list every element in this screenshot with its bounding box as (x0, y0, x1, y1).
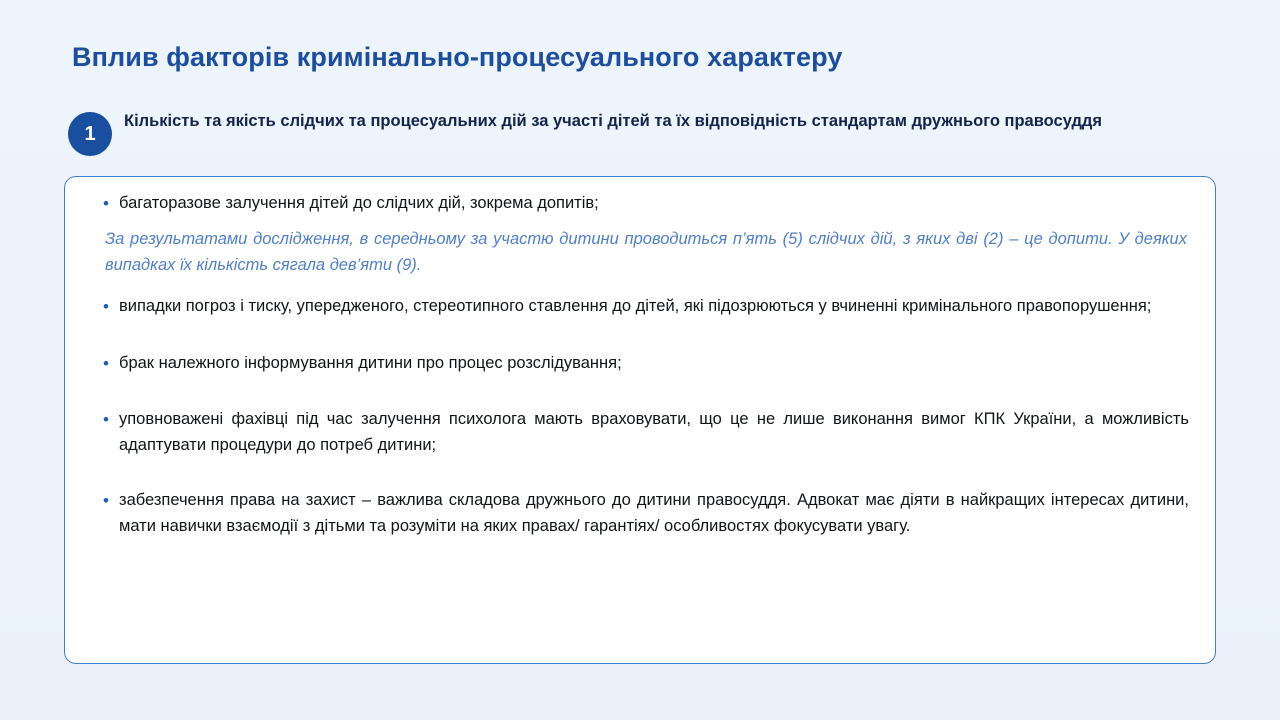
spacer (87, 458, 1193, 488)
bullet-icon: • (87, 351, 119, 377)
bullet-icon: • (87, 488, 119, 514)
research-note: За результатами дослідження, в середньом… (105, 227, 1191, 278)
page-title: Вплив факторів кримінально-процесуальног… (72, 42, 842, 73)
section-number-badge: 1 (68, 112, 112, 156)
slide: Вплив факторів кримінально-процесуальног… (0, 0, 1280, 720)
list-item-text: забезпечення права на захист – важлива с… (119, 488, 1193, 539)
list-item: • багаторазове залучення дітей до слідчи… (87, 191, 1193, 217)
spacer (87, 282, 1193, 294)
spacer (87, 377, 1193, 407)
list-item: • випадки погроз і тиску, упередженого, … (87, 294, 1193, 320)
section-subtitle: Кількість та якість слідчих та процесуал… (124, 110, 1144, 133)
list-item-text: багаторазове залучення дітей до слідчих … (119, 191, 1193, 217)
list-item: • уповноважені фахівці під час залучення… (87, 407, 1193, 458)
bullet-icon: • (87, 294, 119, 320)
list-item-text: брак належного інформування дитини про п… (119, 351, 1193, 377)
section-number-label: 1 (84, 123, 95, 146)
list-item: • забезпечення права на захист – важлива… (87, 488, 1193, 539)
list-item-text: випадки погроз і тиску, упередженого, ст… (119, 294, 1193, 320)
bullet-icon: • (87, 407, 119, 433)
list-item: • брак належного інформування дитини про… (87, 351, 1193, 377)
content-panel: • багаторазове залучення дітей до слідчи… (64, 176, 1216, 664)
bullet-icon: • (87, 191, 119, 217)
spacer (87, 321, 1193, 351)
list-item-text: уповноважені фахівці під час залучення п… (119, 407, 1193, 458)
